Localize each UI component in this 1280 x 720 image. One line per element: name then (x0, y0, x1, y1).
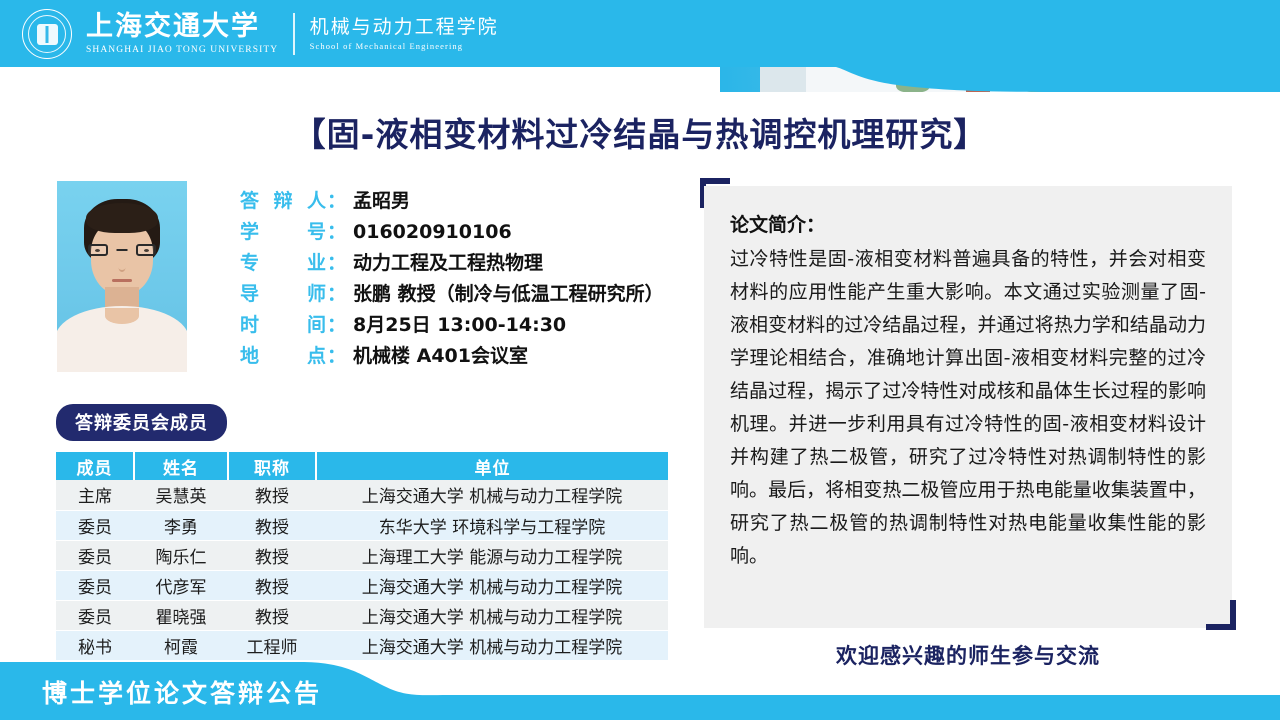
table-row: 委员瞿晓强教授上海交通大学 机械与动力工程学院 (56, 600, 668, 630)
table-header-row: 成员姓名职称单位 (56, 452, 668, 480)
table-cell: 代彦军 (134, 570, 228, 600)
sjtu-logo: 上海交通大学 SHANGHAI JIAO TONG UNIVERSITY 机械与… (22, 8, 499, 60)
abstract-panel: 论文简介： 过冷特性是固-液相变材料普遍具备的特性，并会对相变材料的应用性能产生… (704, 186, 1232, 628)
defense-info-list: 答辩人：孟昭男学号：016020910106专业：动力工程及工程热物理导师：张鹏… (240, 186, 710, 372)
info-colon: ： (327, 248, 346, 275)
announcement-poster: 上海交通大学 SHANGHAI JIAO TONG UNIVERSITY 机械与… (0, 0, 1280, 720)
info-row: 学号：016020910106 (240, 217, 710, 248)
footer-title: 博士学位论文答辩公告 (42, 674, 322, 710)
table-cell: 东华大学 环境科学与工程学院 (316, 510, 668, 540)
table-row: 委员代彦军教授上海交通大学 机械与动力工程学院 (56, 570, 668, 600)
table-row: 委员陶乐仁教授上海理工大学 能源与动力工程学院 (56, 540, 668, 570)
info-row: 答辩人：孟昭男 (240, 186, 710, 217)
info-label: 时间 (240, 310, 326, 337)
info-value: 张鹏 教授（制冷与低温工程研究所） (353, 279, 664, 306)
table-cell: 上海理工大学 能源与动力工程学院 (316, 540, 668, 570)
table-column-header: 单位 (316, 452, 668, 480)
table-cell: 瞿晓强 (134, 600, 228, 630)
table-cell: 李勇 (134, 510, 228, 540)
school-name-en: School of Mechanical Engineering (310, 41, 499, 51)
table-column-header: 职称 (228, 452, 316, 480)
logo-divider (293, 13, 294, 55)
table-cell: 委员 (56, 600, 134, 630)
info-value: 孟昭男 (353, 186, 410, 213)
table-cell: 工程师 (228, 630, 316, 660)
table-cell: 上海交通大学 机械与动力工程学院 (316, 600, 668, 630)
info-row: 地点：机械楼 A401会议室 (240, 341, 710, 372)
table-cell: 教授 (228, 480, 316, 510)
table-cell: 上海交通大学 机械与动力工程学院 (316, 480, 668, 510)
info-colon: ： (327, 217, 346, 244)
abstract-body: 过冷特性是固-液相变材料普遍具备的特性，并会对相变材料的应用性能产生重大影响。本… (730, 243, 1206, 573)
candidate-photo (57, 181, 187, 372)
table-cell: 教授 (228, 600, 316, 630)
info-label: 学号 (240, 217, 326, 244)
school-name-cn: 机械与动力工程学院 (310, 17, 499, 38)
school-name-block: 机械与动力工程学院 School of Mechanical Engineeri… (310, 17, 499, 52)
info-label: 答辩人 (240, 186, 326, 213)
table-cell: 主席 (56, 480, 134, 510)
table-cell: 委员 (56, 540, 134, 570)
table-cell: 委员 (56, 510, 134, 540)
table-body: 主席吴慧英教授上海交通大学 机械与动力工程学院委员李勇教授东华大学 环境科学与工… (56, 480, 668, 660)
table-cell: 陶乐仁 (134, 540, 228, 570)
table-cell: 上海交通大学 机械与动力工程学院 (316, 630, 668, 660)
table-column-header: 姓名 (134, 452, 228, 480)
info-value: 016020910106 (353, 221, 512, 243)
table-column-header: 成员 (56, 452, 134, 480)
committee-badge: 答辩委员会成员 (56, 404, 227, 441)
table-cell: 教授 (228, 570, 316, 600)
table-row: 委员李勇教授东华大学 环境科学与工程学院 (56, 510, 668, 540)
info-row: 专业：动力工程及工程热物理 (240, 248, 710, 279)
table-cell: 吴慧英 (134, 480, 228, 510)
university-name-en: SHANGHAI JIAO TONG UNIVERSITY (86, 45, 278, 55)
info-colon: ： (327, 341, 346, 368)
table-cell: 柯霞 (134, 630, 228, 660)
info-label: 导师 (240, 279, 326, 306)
university-name-block: 上海交通大学 SHANGHAI JIAO TONG UNIVERSITY (86, 13, 278, 54)
committee-table: 成员姓名职称单位 主席吴慧英教授上海交通大学 机械与动力工程学院委员李勇教授东华… (56, 452, 668, 661)
university-name-cn: 上海交通大学 (86, 13, 278, 41)
info-row: 时间：8月25日 13:00-14:30 (240, 310, 710, 341)
info-label: 专业 (240, 248, 326, 275)
header: 上海交通大学 SHANGHAI JIAO TONG UNIVERSITY 机械与… (0, 0, 1280, 92)
info-value: 机械楼 A401会议室 (353, 341, 528, 368)
table-cell: 教授 (228, 510, 316, 540)
table-cell: 委员 (56, 570, 134, 600)
info-row: 导师：张鹏 教授（制冷与低温工程研究所） (240, 279, 710, 310)
abstract-corner-bottom-right (1206, 600, 1236, 630)
info-label: 地点 (240, 341, 326, 368)
sjtu-seal-icon (22, 9, 72, 59)
footer: 博士学位论文答辩公告 (0, 662, 1280, 720)
page-title: 【固-液相变材料过冷结晶与热调控机理研究】 (0, 108, 1280, 156)
table-cell: 教授 (228, 540, 316, 570)
table-row: 主席吴慧英教授上海交通大学 机械与动力工程学院 (56, 480, 668, 510)
table-row: 秘书柯霞工程师上海交通大学 机械与动力工程学院 (56, 630, 668, 660)
table-cell: 上海交通大学 机械与动力工程学院 (316, 570, 668, 600)
info-colon: ： (327, 186, 346, 213)
table-cell: 秘书 (56, 630, 134, 660)
info-value: 8月25日 13:00-14:30 (353, 310, 566, 337)
info-colon: ： (327, 310, 346, 337)
abstract-heading: 论文简介： (730, 210, 1206, 237)
info-colon: ： (327, 279, 346, 306)
info-value: 动力工程及工程热物理 (353, 248, 543, 275)
